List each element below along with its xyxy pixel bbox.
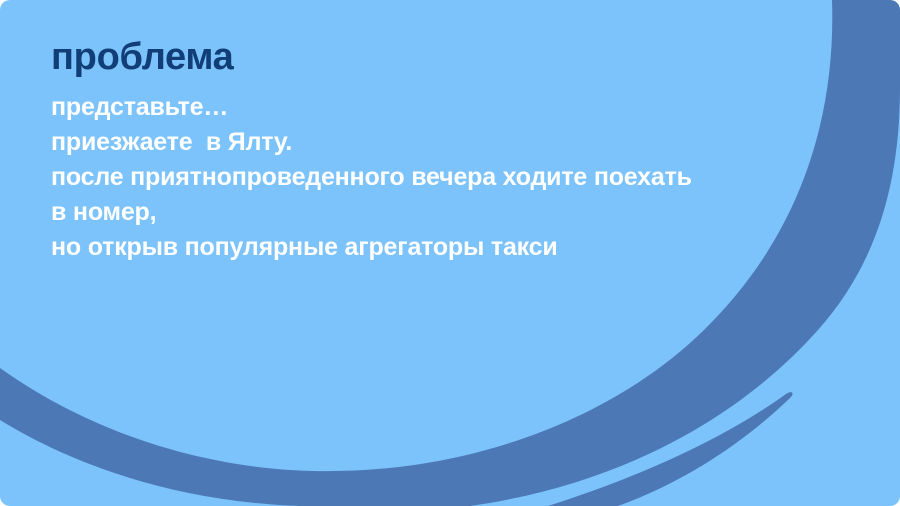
body-line-5: но открыв популярные агрегаторы такси (51, 230, 871, 265)
slide-content: проблема представьте… приезжаете в Ялту.… (0, 0, 900, 506)
presentation-slide: проблема представьте… приезжаете в Ялту.… (0, 0, 900, 506)
page-title: проблема (51, 38, 234, 78)
body-line-3: после приятнопроведенного вечера ходите … (51, 160, 871, 195)
body-line-4: в номер, (51, 195, 871, 230)
body-line-2: приезжаете в Ялту. (51, 125, 871, 160)
slide-body-text: представьте… приезжаете в Ялту. после пр… (51, 90, 871, 265)
body-line-1: представьте… (51, 90, 871, 125)
